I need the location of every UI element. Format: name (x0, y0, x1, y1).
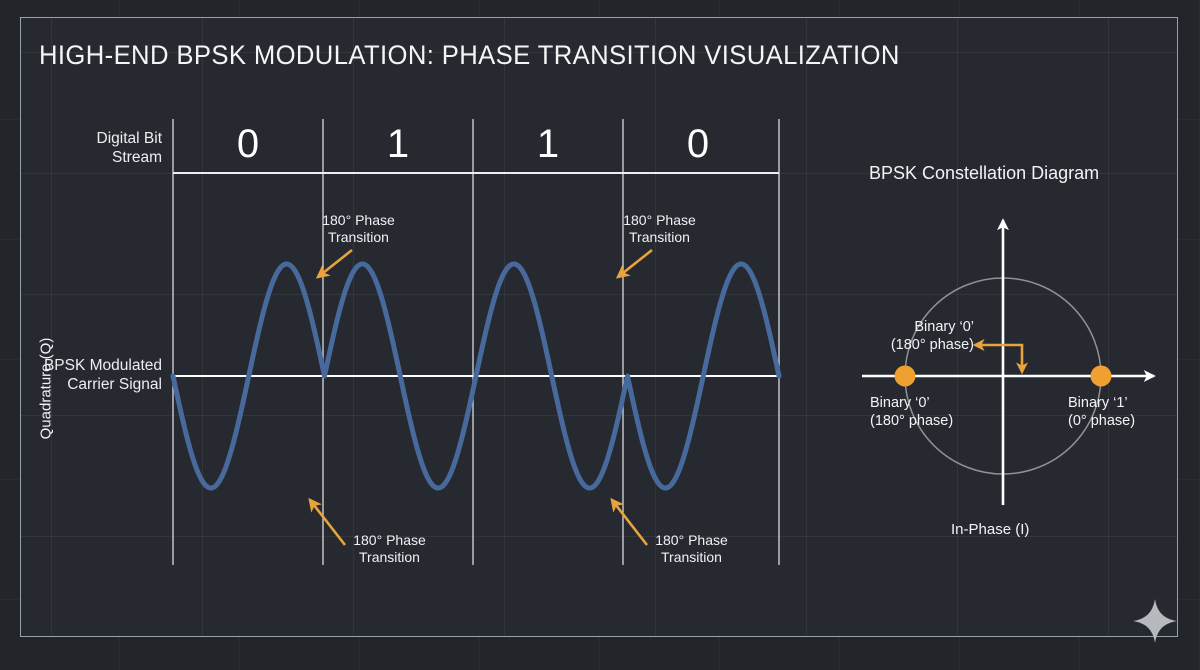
constellation-callout: Binary ‘0’ (180° phase) (876, 318, 974, 354)
constellation-point-binary-0[interactable] (895, 366, 916, 387)
constellation-left-label: Binary ‘0’ (180° phase) (870, 394, 953, 430)
phase-transition-connector (975, 345, 1022, 372)
constellation-left-label-line1: Binary ‘0’ (870, 394, 953, 412)
constellation-callout-line1: Binary ‘0’ (876, 318, 974, 336)
in-phase-axis-label: In-Phase (I) (951, 521, 1029, 538)
constellation-right-label-line2: (0° phase) (1068, 412, 1135, 430)
quadrature-axis-label: Quadrature (Q) (38, 324, 55, 454)
constellation-left-label-line2: (180° phase) (870, 412, 953, 430)
constellation-right-label-line1: Binary ‘1’ (1068, 394, 1135, 412)
constellation-point-binary-1[interactable] (1091, 366, 1112, 387)
constellation-callout-line2: (180° phase) (876, 336, 974, 354)
constellation-right-label: Binary ‘1’ (0° phase) (1068, 394, 1135, 430)
constellation-svg (0, 0, 1200, 670)
sparkle-logo-icon (1131, 597, 1179, 645)
